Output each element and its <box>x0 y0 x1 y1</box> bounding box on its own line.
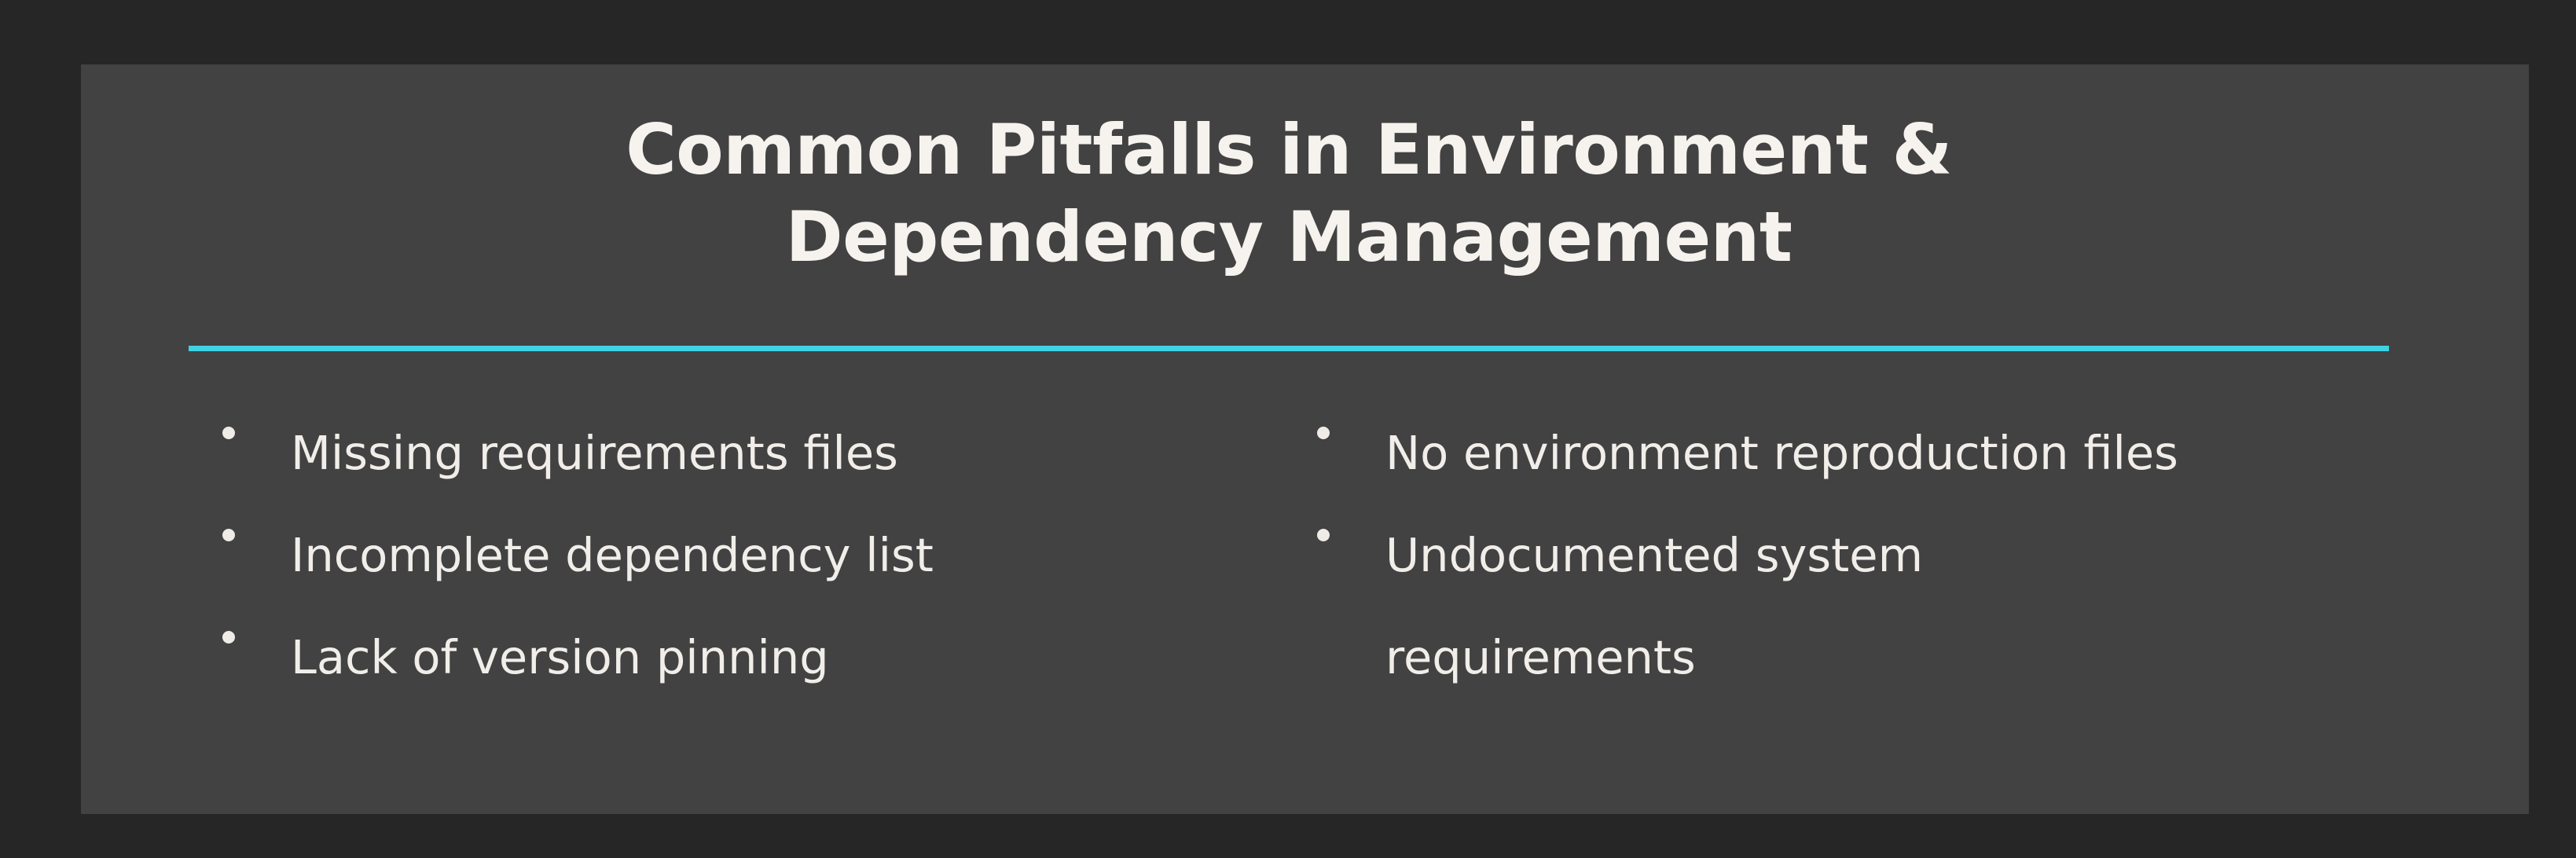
list-item-label: No environment reproduction files <box>1385 402 2178 504</box>
bullet-column-right: No environment reproduction files Undocu… <box>1299 402 2389 709</box>
slide-card: Common Pitfalls in Environment & Depende… <box>81 64 2529 814</box>
bullet-dot-icon <box>1317 529 1330 541</box>
list-item-label: Lack of version pinning <box>291 607 829 709</box>
bullets-grid: Missing requirements files Incomplete de… <box>189 402 2389 709</box>
bullet-dot-icon <box>1317 427 1330 439</box>
list-item: Lack of version pinning <box>222 607 1299 709</box>
title-accent-rule <box>189 346 2389 351</box>
list-item: Missing requirements files <box>222 402 1299 504</box>
list-item-label: Missing requirements files <box>291 402 898 504</box>
list-item: No environment reproduction files <box>1317 402 2389 504</box>
bullet-dot-icon <box>222 631 235 643</box>
slide-content-area: Common Pitfalls in Environment & Depende… <box>189 64 2389 814</box>
bullet-dot-icon <box>222 427 235 439</box>
list-item-label: Incomplete dependency list <box>291 504 934 607</box>
list-item: Incomplete dependency list <box>222 504 1299 607</box>
slide-root: Common Pitfalls in Environment & Depende… <box>0 0 2576 858</box>
bullet-column-left: Missing requirements files Incomplete de… <box>189 402 1299 709</box>
bullet-dot-icon <box>222 529 235 541</box>
list-item-label: Undocumented system requirements <box>1385 504 1923 709</box>
slide-title: Common Pitfalls in Environment & Depende… <box>189 107 2389 281</box>
list-item: Undocumented system requirements <box>1317 504 2389 709</box>
